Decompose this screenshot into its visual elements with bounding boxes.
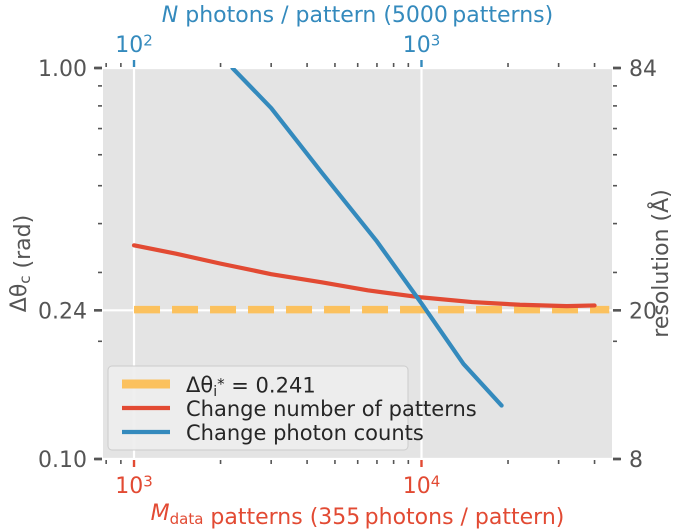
axis-title-right: resolution (Å): [647, 189, 674, 337]
xtick-label-top-0: 102: [115, 31, 153, 58]
ytick-label-right-2: 8: [629, 448, 643, 473]
legend-label-0: Δθi* = 0.241: [186, 373, 316, 400]
axis-title-left: Δθc (rad): [7, 215, 36, 312]
chart-figure: 1031041021031.000.240.1084208Mdata patte…: [0, 0, 685, 532]
xtick-label-top-1: 103: [403, 31, 441, 58]
axis-title-bottom: Mdata patterns (355 photons / pattern): [151, 501, 565, 530]
axis-right-ticks: [613, 68, 621, 459]
xtick-label-bottom-1: 104: [403, 472, 441, 499]
legend-label-2: Change photon counts: [186, 421, 424, 445]
xtick-label-bottom-0: 103: [115, 472, 153, 499]
legend-label-1: Change number of patterns: [186, 397, 477, 421]
ytick-label-left-1: 0.24: [38, 299, 87, 324]
ytick-label-left-2: 0.10: [38, 448, 87, 473]
axis-title-top: N photons / pattern (5000 patterns): [162, 3, 553, 28]
chart-svg: 1031041021031.000.240.1084208Mdata patte…: [0, 0, 685, 532]
axis-left-ticks: [94, 68, 102, 459]
axis-top-ticks: [106, 60, 594, 67]
axis-bottom-ticks: [106, 460, 594, 467]
ytick-label-left-0: 1.00: [38, 57, 87, 82]
ytick-label-right-0: 84: [629, 57, 657, 82]
